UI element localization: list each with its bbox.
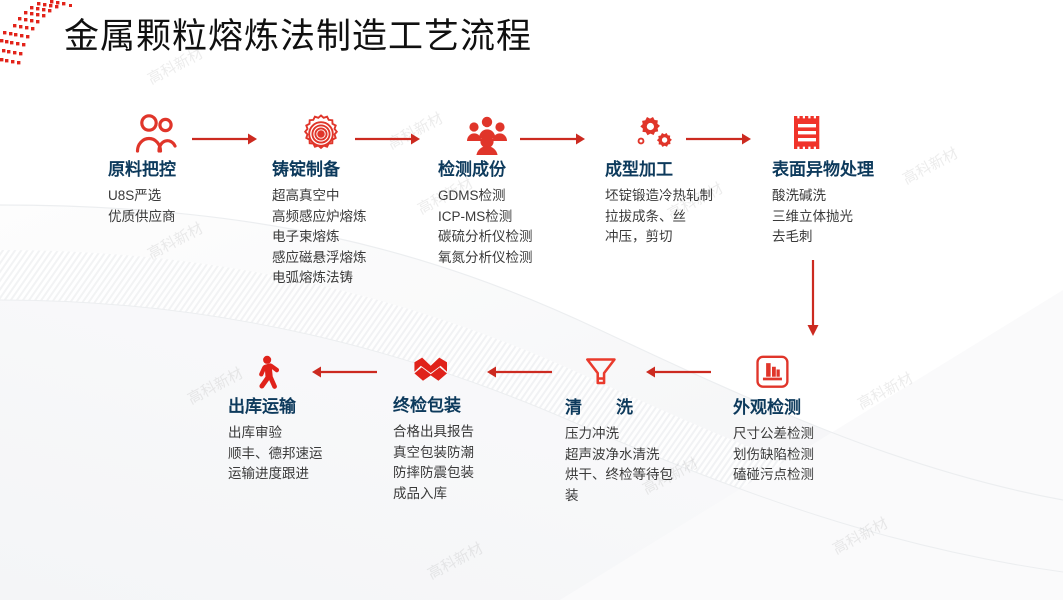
- step-line: 坯锭锻造冷热轧制: [605, 186, 755, 207]
- step-line: 烘干、终检等待包装: [565, 465, 683, 506]
- step-line: 感应磁悬浮熔炼: [272, 248, 422, 269]
- step-line: ICP-MS检测: [438, 207, 588, 228]
- step-line: 运输进度跟进: [228, 464, 378, 485]
- step-line: 氧氮分析仪检测: [438, 248, 588, 269]
- step-lines: 尺寸公差检测 划伤缺陷检测 磕碰污点检测: [733, 424, 883, 486]
- step-surface-treatment[interactable]: 表面异物处理 酸洗碱洗 三维立体抛光 去毛刺: [772, 113, 922, 248]
- step-title: 清 洗: [565, 398, 715, 418]
- step-outbound-shipping[interactable]: 出库运输 出库审验 顺丰、德邦速运 运输进度跟进: [228, 355, 378, 485]
- step-lines: 合格出具报告 真空包装防潮 防摔防震包装 成品入库: [393, 422, 543, 504]
- step-raw-material[interactable]: 原料把控 U8S严选 优质供应商: [108, 113, 258, 227]
- step-lines: 出库审验 顺丰、德邦速运 运输进度跟进: [228, 423, 378, 485]
- step-line: 碳硫分析仪检测: [438, 227, 588, 248]
- arrow-down-connector: [806, 260, 820, 336]
- walking-person-icon: [246, 355, 287, 392]
- step-line: 出库审验: [228, 423, 378, 444]
- step-title: 表面异物处理: [772, 160, 922, 180]
- step-line: 电子束熔炼: [272, 227, 422, 248]
- step-lines: U8S严选 优质供应商: [108, 186, 258, 227]
- step-line: 拉拔成条、丝: [605, 207, 755, 228]
- step-final-packaging[interactable]: 终检包装 合格出具报告 真空包装防潮 防摔防震包装 成品入库: [393, 355, 543, 504]
- step-line: 冲压，剪切: [605, 227, 755, 248]
- step-line: 顺丰、德邦速运: [228, 444, 378, 465]
- step-lines: 酸洗碱洗 三维立体抛光 去毛刺: [772, 186, 922, 248]
- page-title: 金属颗粒熔炼法制造工艺流程: [64, 8, 532, 59]
- step-line: 划伤缺陷检测: [733, 445, 883, 466]
- document-list-icon: [786, 113, 832, 155]
- step-line: 超高真空中: [272, 186, 422, 207]
- step-title: 出库运输: [228, 397, 378, 417]
- step-line: 三维立体抛光: [772, 207, 922, 228]
- group-people-icon: [464, 113, 510, 155]
- step-line: 磕碰污点检测: [733, 465, 883, 486]
- step-line: U8S严选: [108, 186, 258, 207]
- gears-icon: [631, 113, 677, 155]
- step-appearance-inspection[interactable]: 外观检测 尺寸公差检测 划伤缺陷检测 磕碰污点检测: [733, 355, 883, 486]
- step-line: 尺寸公差检测: [733, 424, 883, 445]
- step-composition-test[interactable]: 检测成份 GDMS检测 ICP-MS检测 碳硫分析仪检测 氧氮分析仪检测: [438, 113, 588, 268]
- step-line: GDMS检测: [438, 186, 588, 207]
- process-flow-diagram: 原料把控 U8S严选 优质供应商 铸锭制备 超高真空中 高频感应炉熔炼 电子束熔…: [0, 0, 1063, 600]
- gear-ring-icon: [298, 113, 344, 155]
- step-lines: 超高真空中 高频感应炉熔炼 电子束熔炼 感应磁悬浮熔炼 电弧熔炼法铸: [272, 186, 422, 289]
- step-ingot-prep[interactable]: 铸锭制备 超高真空中 高频感应炉熔炼 电子束熔炼 感应磁悬浮熔炼 电弧熔炼法铸: [272, 113, 422, 289]
- step-line: 压力冲洗: [565, 424, 715, 445]
- people-icon: [134, 113, 180, 155]
- step-title: 成型加工: [605, 160, 755, 180]
- step-line: 电弧熔炼法铸: [272, 268, 422, 289]
- step-line: 防摔防震包装: [393, 463, 543, 484]
- step-title: 外观检测: [733, 398, 883, 418]
- step-line: 成品入库: [393, 484, 543, 505]
- step-line: 优质供应商: [108, 207, 258, 228]
- step-line: 酸洗碱洗: [772, 186, 922, 207]
- step-lines: GDMS检测 ICP-MS检测 碳硫分析仪检测 氧氮分析仪检测: [438, 186, 588, 268]
- factory-box-icon: [753, 355, 795, 393]
- step-title: 原料把控: [108, 160, 258, 180]
- step-line: 去毛刺: [772, 227, 922, 248]
- funnel-icon: [581, 355, 623, 393]
- step-lines: 压力冲洗 超声波净水清洗 烘干、终检等待包装: [565, 424, 715, 506]
- step-line: 超声波净水清洗: [565, 445, 715, 466]
- step-line: 真空包装防潮: [393, 443, 543, 464]
- step-cleaning[interactable]: 清 洗 压力冲洗 超声波净水清洗 烘干、终检等待包装: [565, 355, 715, 506]
- open-box-icon: [411, 355, 450, 391]
- step-title: 终检包装: [393, 396, 543, 416]
- step-line: 合格出具报告: [393, 422, 543, 443]
- step-title: 检测成份: [438, 160, 588, 180]
- step-title: 铸锭制备: [272, 160, 422, 180]
- step-forming[interactable]: 成型加工 坯锭锻造冷热轧制 拉拔成条、丝 冲压，剪切: [605, 113, 755, 248]
- step-line: 高频感应炉熔炼: [272, 207, 422, 228]
- step-lines: 坯锭锻造冷热轧制 拉拔成条、丝 冲压，剪切: [605, 186, 755, 248]
